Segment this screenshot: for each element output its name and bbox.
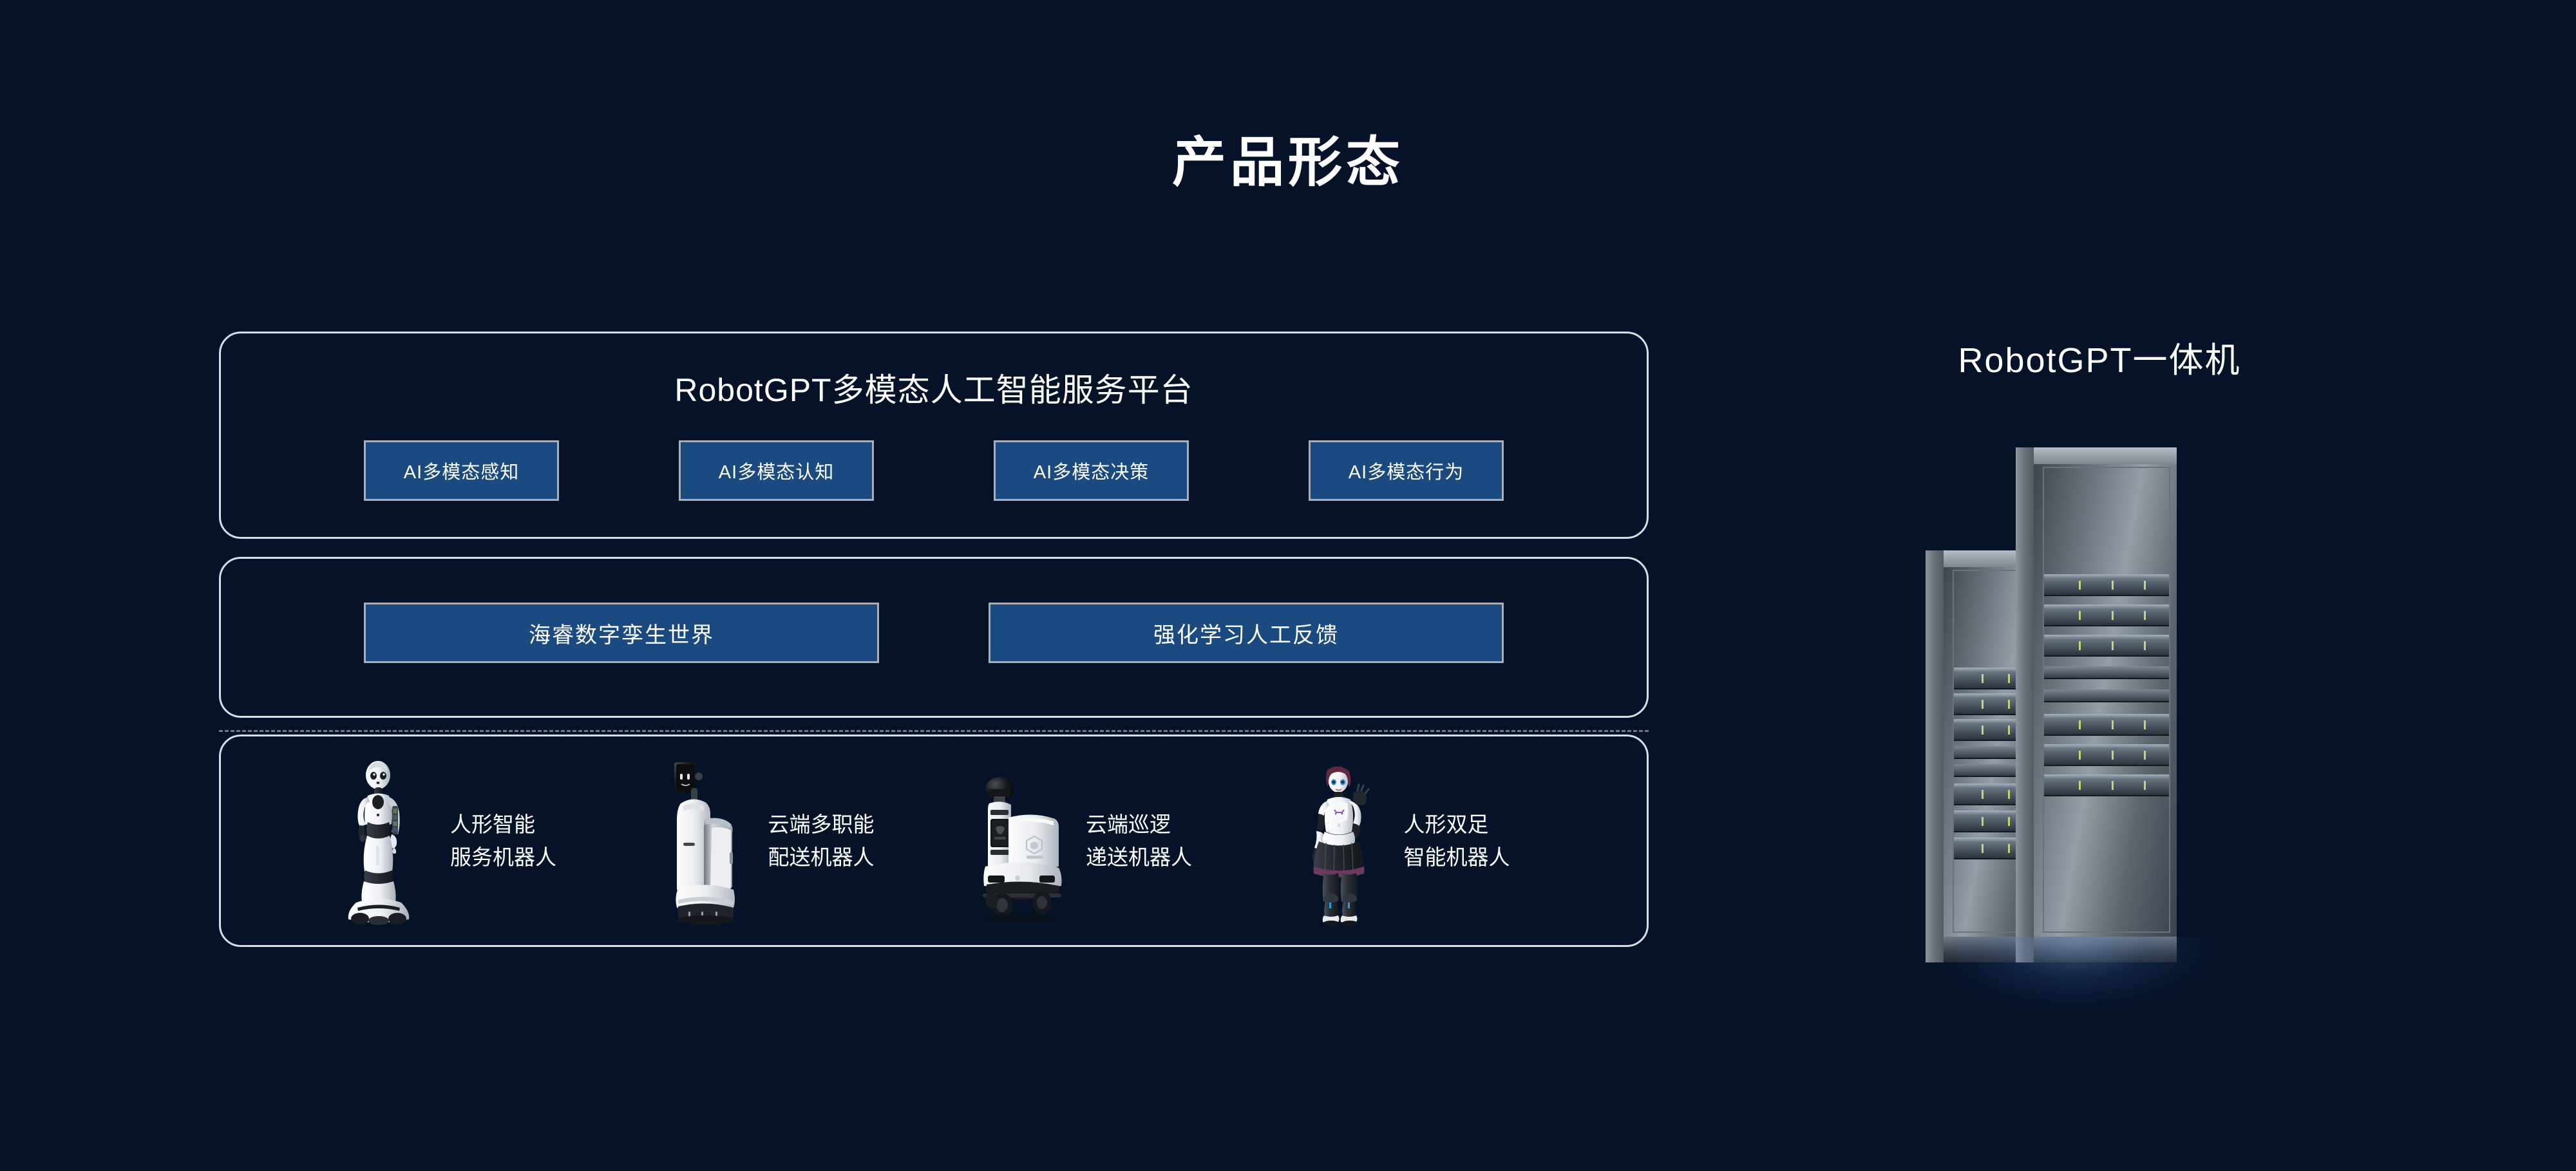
platform-chip-row: AI多模态感知 AI多模态认知 AI多模态决策 AI多模态行为 [221, 440, 1647, 501]
robot-item-patrol-delivery[interactable]: 云端巡逻 递送机器人 [972, 756, 1291, 926]
platform-panel-title: RobotGPT多模态人工智能服务平台 [221, 364, 1647, 411]
rack-top-cap [2034, 447, 2177, 464]
robot-label-bipedal-humanoid: 人形双足 智能机器人 [1404, 808, 1510, 874]
robot-label-humanoid-service: 人形智能 服务机器人 [450, 808, 556, 874]
rack-base [2034, 937, 2177, 962]
server-rack-front [2016, 447, 2177, 962]
robot-label-line1: 人形双足 [1404, 808, 1510, 841]
robot-label-line1: 云端巡逻 [1086, 808, 1192, 841]
robot-label-line2: 配送机器人 [768, 841, 875, 874]
platform-panel: RobotGPT多模态人工智能服务平台 AI多模态感知 AI多模态认知 AI多模… [219, 332, 1649, 539]
panel-divider [219, 730, 1649, 732]
robots-panel: 人形智能 服务机器人 [219, 735, 1649, 947]
robot-row: 人形智能 服务机器人 [221, 736, 1647, 945]
robot-item-humanoid-service[interactable]: 人形智能 服务机器人 [337, 756, 655, 926]
appliance-column: RobotGPT一体机 [1855, 332, 2344, 382]
robot-label-line2: 服务机器人 [450, 841, 556, 874]
robot-label-line1: 人形智能 [450, 808, 556, 841]
robot-item-bipedal-humanoid[interactable]: 人形双足 智能机器人 [1291, 756, 1609, 926]
platform-chip-action[interactable]: AI多模态行为 [1309, 440, 1504, 501]
bipedal-humanoid-robot-icon [1291, 756, 1387, 926]
robot-label-line2: 递送机器人 [1086, 841, 1192, 874]
robot-label-cloud-delivery: 云端多职能 配送机器人 [768, 808, 875, 874]
platform-chip-perception[interactable]: AI多模态感知 [364, 440, 559, 501]
platform-chip-cognition[interactable]: AI多模态认知 [679, 440, 874, 501]
platform-chip-decision[interactable]: AI多模态决策 [994, 440, 1189, 501]
engine-panel: 海睿数字孪生世界 强化学习人工反馈 [219, 557, 1649, 718]
page-title: 产品形态 [0, 119, 2576, 197]
engine-chip-rlhf[interactable]: 强化学习人工反馈 [989, 603, 1504, 663]
robot-label-patrol-delivery: 云端巡逻 递送机器人 [1086, 808, 1192, 874]
robot-label-line2: 智能机器人 [1404, 841, 1510, 874]
engine-chip-digital-twin[interactable]: 海睿数字孪生世界 [364, 603, 879, 663]
robot-label-line1: 云端多职能 [768, 808, 875, 841]
engine-chip-row: 海睿数字孪生世界 强化学习人工反馈 [221, 603, 1647, 663]
server-rack-icon [1887, 422, 2248, 1053]
rack-bay-area [2043, 467, 2170, 933]
humanoid-service-robot-icon [337, 756, 433, 926]
robot-item-cloud-delivery[interactable]: 云端多职能 配送机器人 [655, 756, 973, 926]
platform-stack: RobotGPT多模态人工智能服务平台 AI多模态感知 AI多模态认知 AI多模… [219, 332, 1649, 947]
cloud-delivery-robot-icon [655, 756, 752, 926]
appliance-title: RobotGPT一体机 [1855, 332, 2344, 382]
patrol-delivery-vehicle-icon [972, 756, 1069, 926]
slide-root: 产品形态 RobotGPT多模态人工智能服务平台 AI多模态感知 AI多模态认知… [0, 0, 2576, 1171]
